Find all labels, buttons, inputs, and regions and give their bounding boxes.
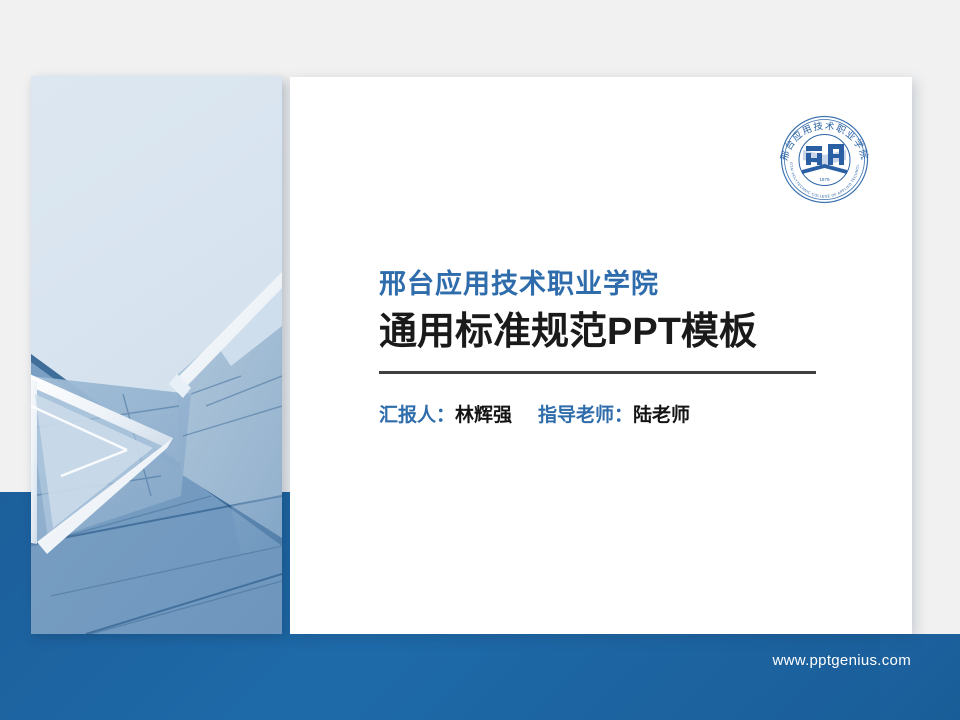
title-text-block: 邢台应用技术职业学院 通用标准规范PPT模板 汇报人：林辉强指导老师：陆老师 xyxy=(379,270,819,427)
right-blue-band xyxy=(880,634,960,720)
page-title: 通用标准规范PPT模板 xyxy=(379,311,819,354)
architecture-photo xyxy=(31,76,282,634)
advisor-name: 陆老师 xyxy=(633,405,690,426)
footer-url[interactable]: www.pptgenius.com xyxy=(0,652,911,669)
svg-text:1979: 1979 xyxy=(819,177,830,182)
presenter-label: 汇报人： xyxy=(379,405,455,426)
presenter-row: 汇报人：林辉强指导老师：陆老师 xyxy=(379,400,819,427)
organization-name: 邢台应用技术职业学院 xyxy=(379,270,819,300)
university-seal: 邢台应用技术职业学院 XINGTAI POLYTECHNIC COLLEGE O… xyxy=(773,108,876,211)
presenter-name: 林辉强 xyxy=(455,405,512,426)
title-divider xyxy=(379,371,816,374)
presentation-slide: 邢台应用技术职业学院 XINGTAI POLYTECHNIC COLLEGE O… xyxy=(0,0,960,720)
advisor-label: 指导老师： xyxy=(538,405,633,426)
